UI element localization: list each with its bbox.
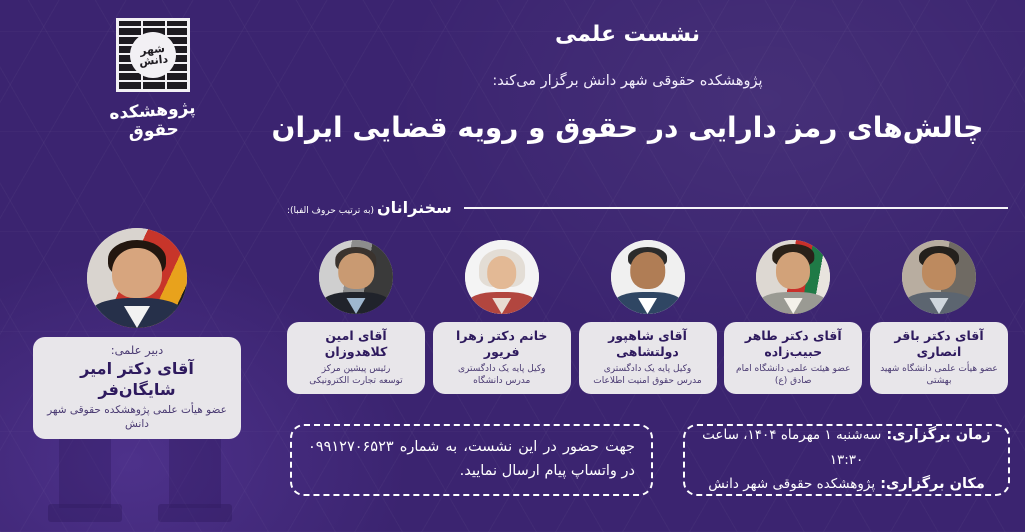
event-place-row: مکان برگزاری: پژوهشکده حقوقی شهر دانش	[699, 472, 994, 497]
secretary-role: دبیر علمی:	[42, 344, 232, 358]
speaker-name: آقای دکتر باقر انصاری	[876, 328, 1002, 361]
event-place-value: پژوهشکده حقوقی شهر دانش	[708, 476, 875, 492]
speakers-section-header: سخنرانان(به ترتیب حروف الفبا):	[287, 198, 1008, 217]
event-details-box: زمان برگزاری: سه‌شنبه ۱ مهرماه ۱۴۰۴، ساع…	[683, 424, 1010, 496]
speakers-label-note: (به ترتیب حروف الفبا):	[287, 206, 377, 216]
speaker-name: خانم دکتر زهرا فریور	[439, 328, 565, 361]
registration-instructions: جهت حضور در این نشست، به شماره ۰۹۹۱۲۷۰۶۵…	[308, 436, 635, 484]
speaker-affiliation: عضو هیأت علمی دانشگاه شهید بهشتی	[876, 363, 1002, 387]
secretary-card: دبیر علمی: آقای دکتر امیر شایگان‌فر عضو …	[33, 337, 241, 439]
scientific-secretary: دبیر علمی: آقای دکتر امیر شایگان‌فر عضو …	[33, 228, 241, 439]
organization-logo: شهر دانش پژوهشکده حقوق	[88, 18, 218, 141]
speaker-affiliation: وکیل پایه یک دادگستری مدرس حقوق امنیت اط…	[585, 363, 711, 387]
speaker-affiliation: عضو هیئت علمی دانشگاه امام صادق (ع)	[730, 363, 856, 387]
speaker-name: آقای دکتر طاهر حبیب‌زاده	[730, 328, 856, 361]
speaker-name: آقای شاهپور دولتشاهی	[585, 328, 711, 361]
speakers-list: آقای امین کلاهدوزان رئیس پیشین مرکز توسع…	[287, 240, 1008, 394]
speaker-affiliation: رئیس پیشین مرکز توسعه تجارت الکترونیکی	[293, 363, 419, 387]
event-time-label: زمان برگزاری:	[886, 427, 991, 443]
organizer-line: پژوهشکده حقوقی شهر دانش برگزار می‌کند:	[250, 73, 1005, 89]
avatar	[902, 240, 976, 314]
secretary-affiliation: عضو هیأت علمی پژوهشکده حقوقی شهر دانش	[42, 403, 232, 431]
registration-contact-box[interactable]: جهت حضور در این نشست، به شماره ۰۹۹۱۲۷۰۶۵…	[290, 424, 653, 496]
event-poster: شهر دانش پژوهشکده حقوق نشست علمی پژوهشکد…	[0, 0, 1025, 532]
poster-header: نشست علمی پژوهشکده حقوقی شهر دانش برگزار…	[250, 22, 1005, 145]
logo-mark-text: شهر دانش	[129, 42, 177, 69]
speaker-card: آقای شاهپور دولتشاهی وکیل پایه یک دادگست…	[579, 240, 717, 394]
speaker-card: آقای دکتر طاهر حبیب‌زاده عضو هیئت علمی د…	[724, 240, 862, 394]
speaker-card: آقای دکتر باقر انصاری عضو هیأت علمی دانش…	[870, 240, 1008, 394]
event-kicker: نشست علمی	[250, 22, 1005, 47]
speaker-name: آقای امین کلاهدوزان	[293, 328, 419, 361]
logo-caption: پژوهشکده حقوق	[87, 97, 219, 146]
page-title: چالش‌های رمز دارایی در حقوق و رویه قضایی…	[250, 110, 1005, 145]
avatar	[87, 228, 187, 328]
speaker-card: آقای امین کلاهدوزان رئیس پیشین مرکز توسع…	[287, 240, 425, 394]
speaker-affiliation: وکیل پایه یک دادگستری مدرس دانشگاه	[439, 363, 565, 387]
avatar	[319, 240, 393, 314]
avatar	[756, 240, 830, 314]
speakers-label: سخنرانان(به ترتیب حروف الفبا):	[287, 198, 452, 217]
avatar	[611, 240, 685, 314]
secretary-name: آقای دکتر امیر شایگان‌فر	[42, 358, 232, 401]
divider	[464, 207, 1008, 209]
event-time-value: سه‌شنبه ۱ مهرماه ۱۴۰۴، ساعت ۱۳:۳۰	[702, 427, 881, 468]
speaker-card: خانم دکتر زهرا فریور وکیل پایه یک دادگست…	[433, 240, 571, 394]
event-place-label: مکان برگزاری:	[880, 476, 985, 492]
avatar	[465, 240, 539, 314]
event-time-row: زمان برگزاری: سه‌شنبه ۱ مهرماه ۱۴۰۴، ساع…	[699, 423, 994, 472]
logo-mark-icon: شهر دانش	[116, 18, 190, 92]
